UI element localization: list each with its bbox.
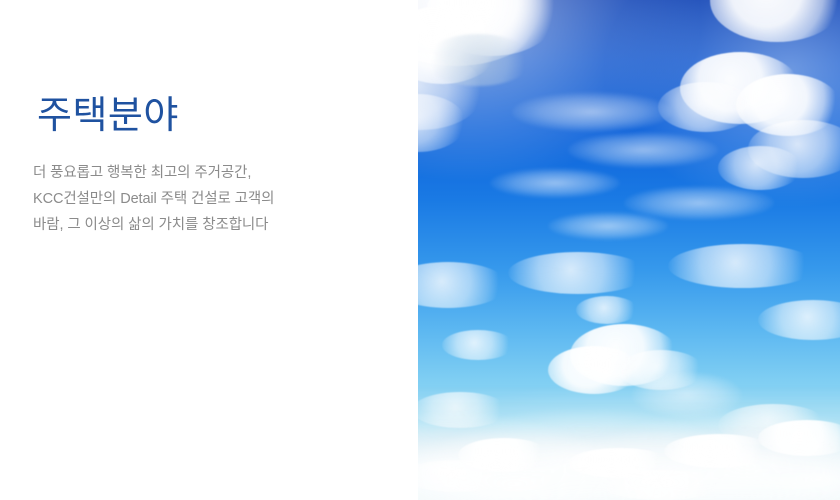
page-title: 주택분야 bbox=[37, 93, 179, 139]
housing-sector-hero-page: 주택분야 더 풍요롭고 행복한 최고의 주거공간, KCC건설만의 Detail… bbox=[0, 0, 840, 500]
description-line-2: KCC건설만의 Detail 주택 건설로 고객의 bbox=[33, 186, 363, 212]
description-line-1: 더 풍요롭고 행복한 최고의 주거공간, bbox=[33, 160, 363, 186]
description-line-3: 바람, 그 이상의 삶의 가치를 창조합니다 bbox=[33, 212, 363, 238]
sky-hero-image bbox=[418, 0, 840, 500]
page-description: 더 풍요롭고 행복한 최고의 주거공간, KCC건설만의 Detail 주택 건… bbox=[33, 160, 363, 238]
text-panel: 주택분야 더 풍요롭고 행복한 최고의 주거공간, KCC건설만의 Detail… bbox=[0, 0, 418, 500]
horizon-cloud-band bbox=[418, 386, 840, 500]
